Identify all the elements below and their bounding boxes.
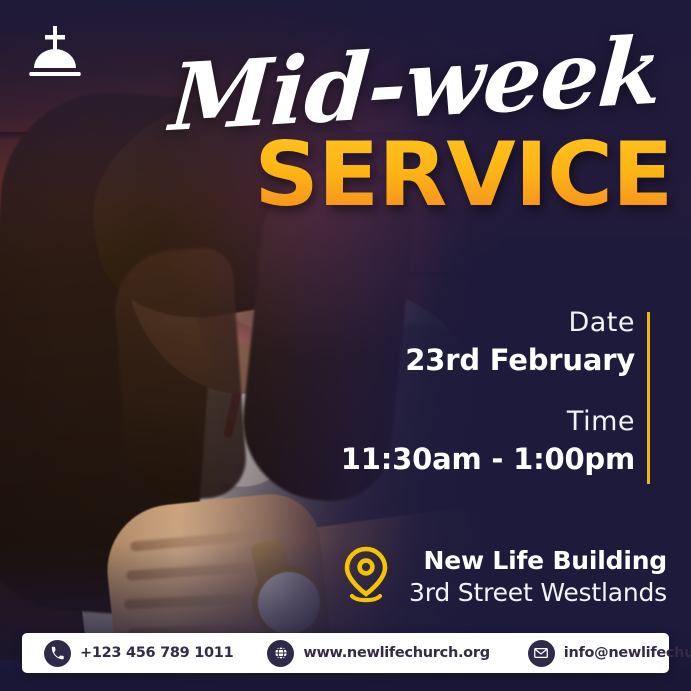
time-value: 11:30am - 1:00pm xyxy=(305,441,635,479)
website-url: www.newlifechurch.org xyxy=(303,645,489,661)
contact-website[interactable]: www.newlifechurch.org xyxy=(258,640,498,667)
location-pin-icon xyxy=(341,543,391,610)
church-cross-dome-icon xyxy=(24,20,86,82)
email-address: info@newlifechurch.org xyxy=(564,645,691,661)
headline-main-line: SERVICE xyxy=(165,131,672,219)
time-label: Time xyxy=(305,405,635,439)
contact-bar: +123 456 789 1011 www.newlifechurch.org xyxy=(22,633,669,673)
date-label: Date xyxy=(305,306,635,340)
venue-name: New Life Building xyxy=(409,545,667,576)
contact-email[interactable]: info@newlifechurch.org xyxy=(519,640,691,667)
phone-icon xyxy=(44,640,71,667)
venue-street: 3rd Street Westlands xyxy=(409,577,667,608)
detail-spacer xyxy=(305,379,635,405)
flyer-canvas: Mid-week SERVICE Date 23rd February Time… xyxy=(0,0,691,691)
venue-text-group: New Life Building 3rd Street Westlands xyxy=(409,545,667,608)
envelope-icon xyxy=(528,640,555,667)
headline-block: Mid-week SERVICE xyxy=(170,42,667,219)
event-details-block: Date 23rd February Time 11:30am - 1:00pm xyxy=(305,306,635,479)
venue-block: New Life Building 3rd Street Westlands xyxy=(341,543,667,610)
gold-accent-line xyxy=(647,312,650,484)
phone-number: +123 456 789 1011 xyxy=(80,645,233,661)
date-value: 23rd February xyxy=(305,342,635,380)
globe-icon xyxy=(267,640,294,667)
contact-phone[interactable]: +123 456 789 1011 xyxy=(35,640,242,667)
